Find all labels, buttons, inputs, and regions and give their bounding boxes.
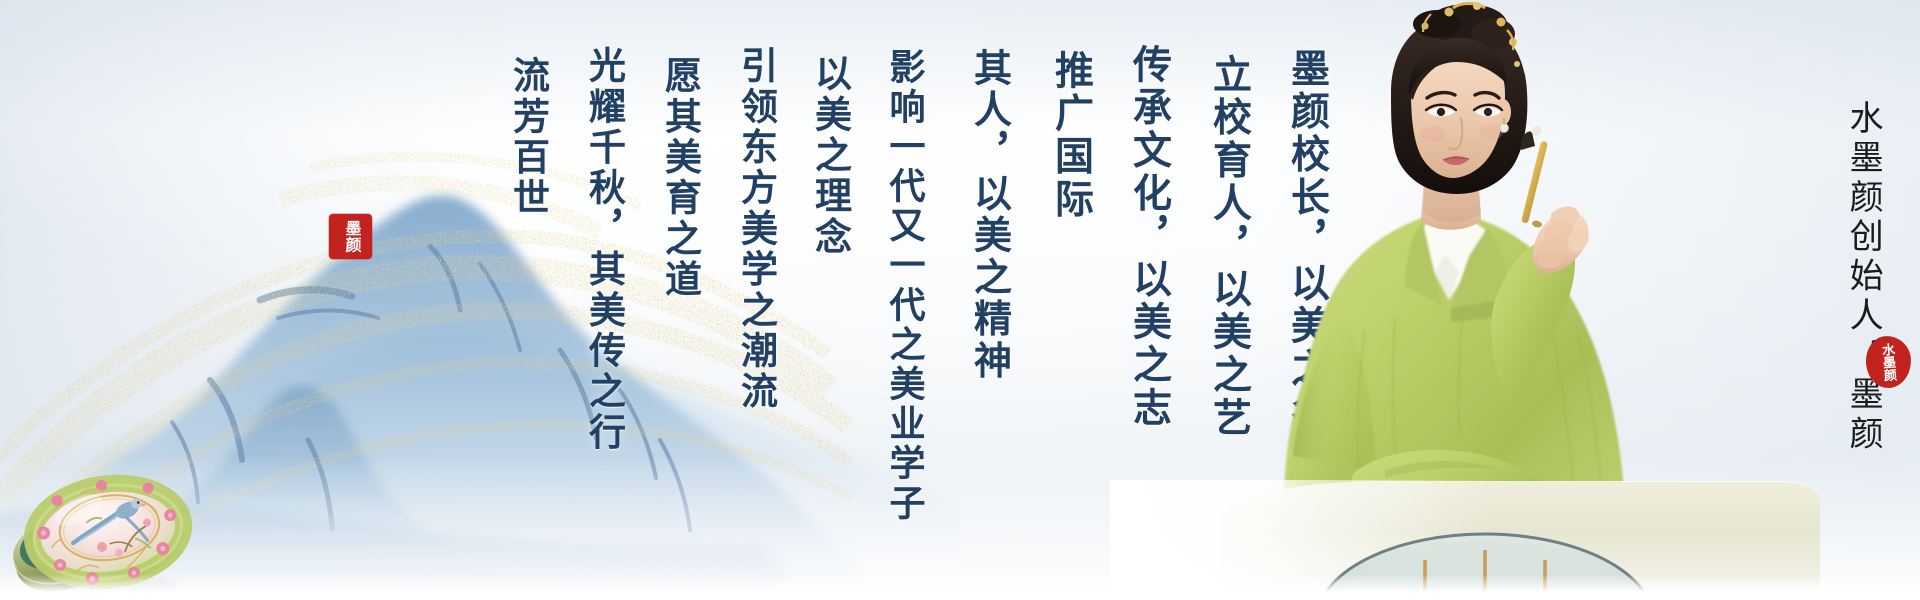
couplet-column-8: 引领东方美学之潮流 <box>736 46 774 412</box>
couplet-column-9: 愿其美育之道 <box>660 56 698 300</box>
couplet-column-10: 光耀千秋，其美传之行 <box>584 46 622 453</box>
left-seal-stamp: 墨颜 <box>329 214 372 259</box>
couplet-column-6: 影响一代又一代之美业学子 <box>886 48 923 523</box>
banner-root: 墨颜校长，以美之名 立校育人，以美之艺 传承文化，以美之志 推广国际 其人，以美… <box>0 0 1920 600</box>
couplet-column-3: 传承文化，以美之志 <box>1128 44 1169 430</box>
bottom-fade <box>0 574 1920 600</box>
couplet-column-7: 以美之理念 <box>810 54 848 258</box>
couplet-column-2: 立校育人，以美之艺 <box>1208 54 1249 440</box>
couplet-column-5: 其人，以美之精神 <box>968 48 1008 382</box>
couplet-column-4: 推广国际 <box>1050 50 1091 222</box>
left-seal-text: 墨颜 <box>343 220 359 253</box>
founder-seal-text: 水墨颜 <box>1881 342 1897 381</box>
founder-signature: 水墨颜创始人：墨颜 <box>1842 100 1882 455</box>
couplet-column-11: 流芳百世 <box>508 56 546 219</box>
